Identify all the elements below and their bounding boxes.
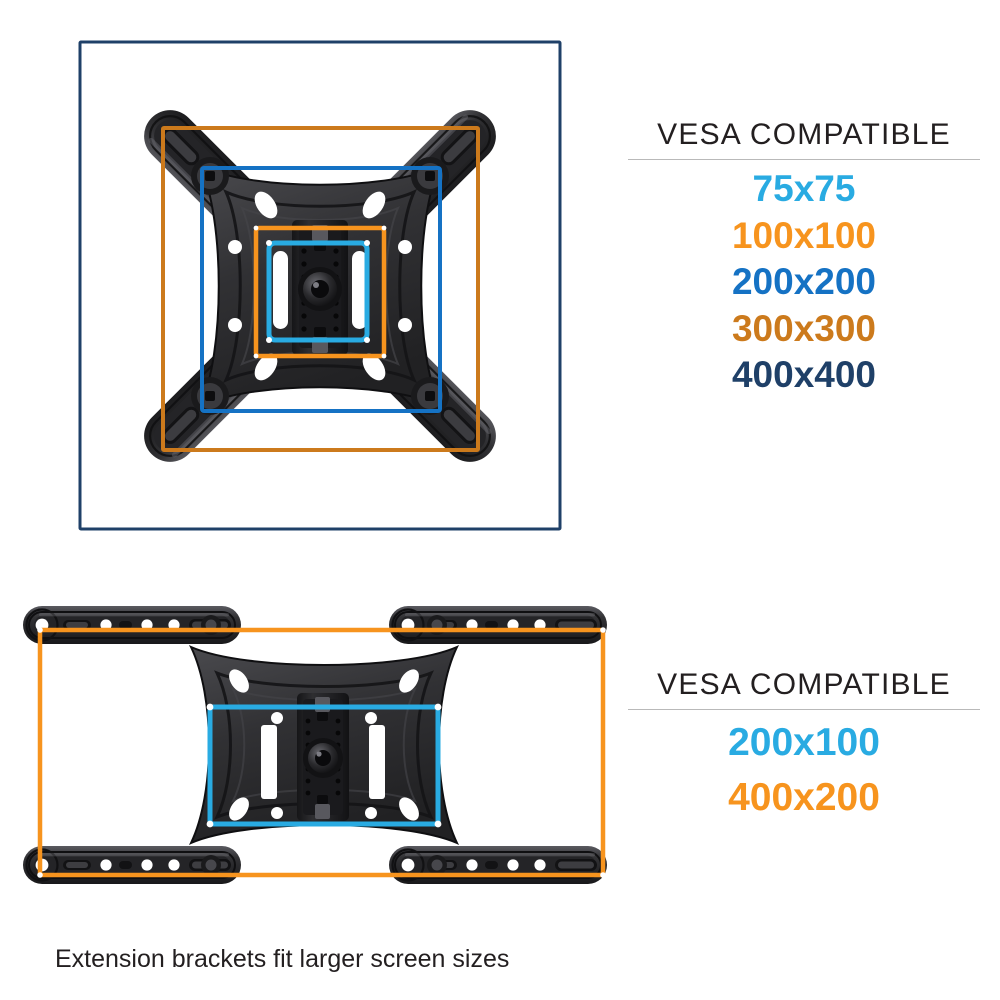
top-vesa-heading: VESA COMPATIBLE <box>628 118 980 152</box>
top-product-image <box>30 15 610 560</box>
top-vesa-divider <box>628 159 980 160</box>
caption-block: Extension brackets fit larger screen siz… <box>55 945 655 974</box>
vesa-size-200x100: 200x100 <box>628 716 980 771</box>
vesa-size-75x75: 75x75 <box>628 166 980 213</box>
bottom-vesa-spec-block: VESA COMPATIBLE 200x100 400x200 <box>628 668 980 825</box>
vesa-size-200x200: 200x200 <box>628 259 980 306</box>
bottom-vesa-divider <box>628 709 980 710</box>
top-vesa-list: 75x75 100x100 200x200 300x300 400x400 <box>628 166 980 399</box>
top-vesa-spec-block: VESA COMPATIBLE 75x75 100x100 200x200 30… <box>628 118 980 399</box>
vesa-size-400x400: 400x400 <box>628 352 980 399</box>
bottom-vesa-list: 200x100 400x200 <box>628 716 980 825</box>
vesa-size-100x100: 100x100 <box>628 213 980 260</box>
tilt-rail-assembly <box>292 220 348 355</box>
vesa-size-400x200: 400x200 <box>628 771 980 826</box>
tilt-rail-assembly <box>297 693 349 821</box>
infographic-canvas: VESA COMPATIBLE 75x75 100x100 200x200 30… <box>0 0 1000 1000</box>
bottom-vesa-heading: VESA COMPATIBLE <box>628 668 980 702</box>
vesa-size-300x300: 300x300 <box>628 306 980 353</box>
caption-text: Extension brackets fit larger screen siz… <box>55 945 655 974</box>
bottom-product-image <box>5 585 625 905</box>
